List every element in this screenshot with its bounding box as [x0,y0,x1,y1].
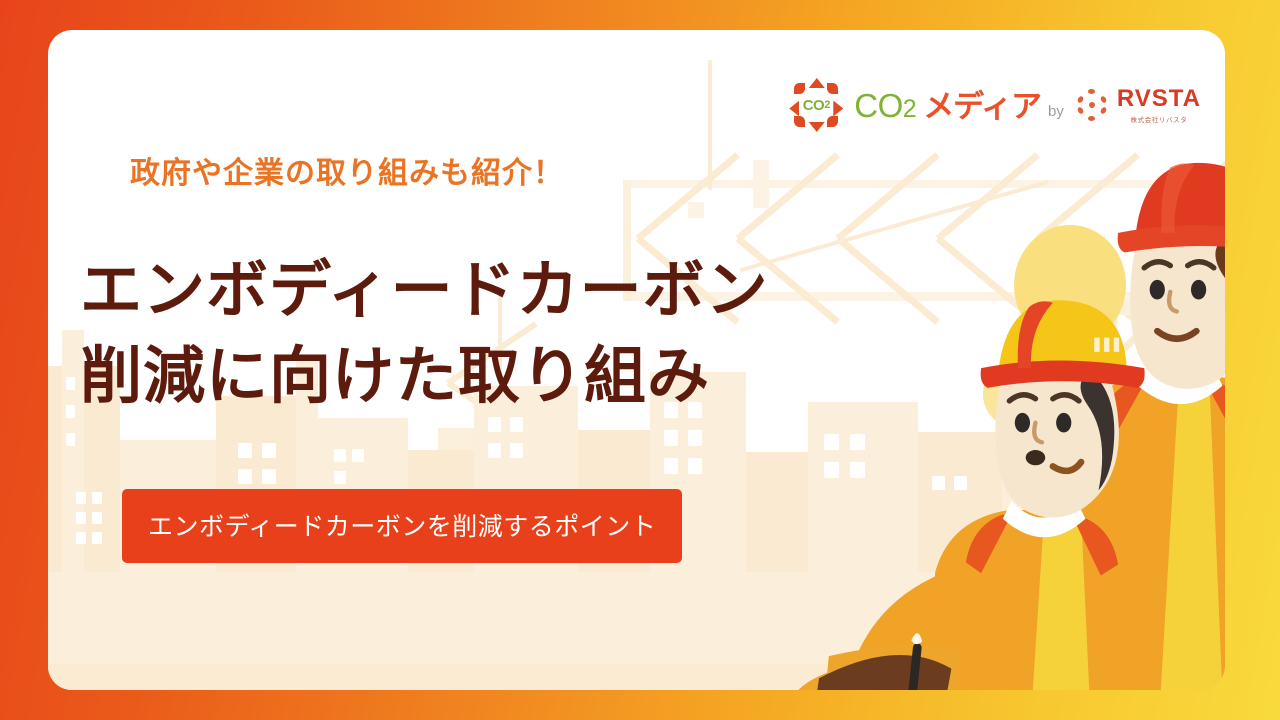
slide-canvas: CO2 CO2 メディア by [0,0,1280,720]
content-card: CO2 CO2 メディア by [48,30,1225,690]
cta-button[interactable]: エンボディードカーボンを削減するポイント [122,489,682,563]
text-layer: 政府や企業の取り組みも紹介！ エンボディードカーボン 削減に向けた取り組み エン… [48,30,1225,690]
kicker-text: 政府や企業の取り組みも紹介！ [130,148,564,192]
page-title: エンボディードカーボン 削減に向けた取り組み [80,248,769,419]
